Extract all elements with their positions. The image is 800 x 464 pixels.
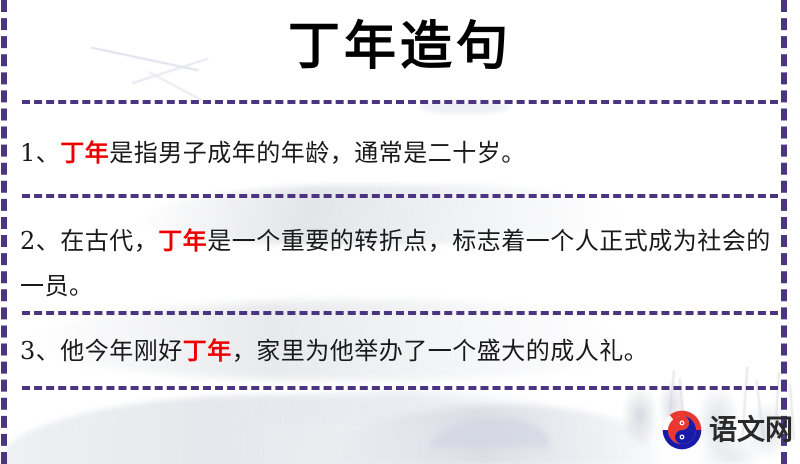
sentence-item-2: 2、在古代，丁年是一个重要的转折点，标志着一个人正式成为社会的一员。: [20, 218, 772, 309]
yin-yang-fish-icon: [660, 408, 704, 452]
site-logo-text: 语文网: [709, 416, 793, 444]
sentence-text-after-1: 是指男子成年的年龄，通常是二十岁。: [109, 139, 526, 167]
page-title: 丁年造句: [0, 14, 800, 79]
divider-1: [22, 100, 778, 104]
divider-4: [22, 386, 778, 390]
divider-3: [22, 311, 778, 315]
keyword-highlight-1: 丁年: [60, 138, 109, 167]
page-root: 丁年造句 1、丁年是指男子成年的年龄，通常是二十岁。 2、在古代，丁年是一个重要…: [0, 0, 800, 464]
sentence-item-1: 1、丁年是指男子成年的年龄，通常是二十岁。: [20, 130, 772, 176]
sentence-index-3: 3、: [20, 337, 60, 365]
keyword-highlight-2: 丁年: [158, 226, 207, 255]
sentence-text-before-3: 他今年刚好: [60, 337, 183, 365]
site-logo[interactable]: 语文网: [660, 408, 793, 452]
sentence-item-3: 3、他今年刚好丁年，家里为他举办了一个盛大的成人礼。: [20, 328, 772, 374]
keyword-highlight-3: 丁年: [183, 336, 232, 365]
sentence-index-1: 1、: [20, 139, 60, 167]
sentence-index-2: 2、: [20, 227, 60, 255]
sentence-text-before-2: 在古代，: [60, 227, 158, 255]
divider-2: [22, 194, 778, 198]
sentence-text-after-3: ，家里为他举办了一个盛大的成人礼。: [232, 337, 649, 365]
